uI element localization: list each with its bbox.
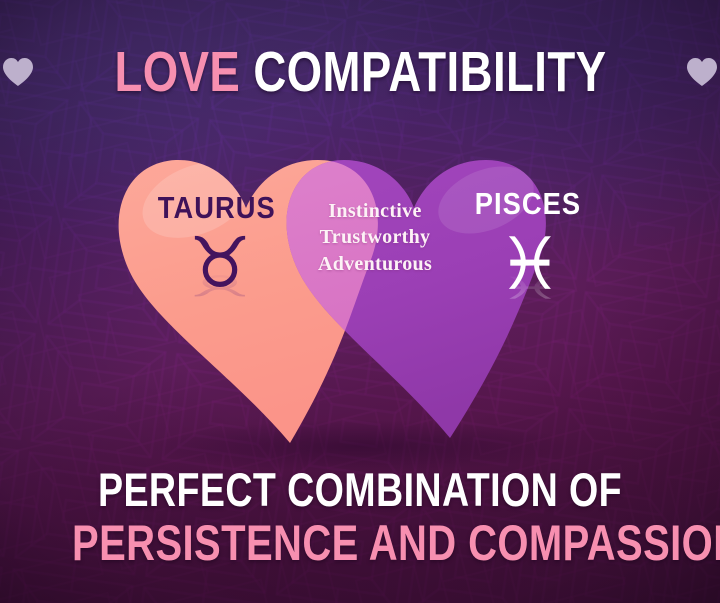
page-title: LOVE COMPATIBILITY (114, 44, 606, 101)
title-compatibility: COMPATIBILITY (240, 40, 606, 104)
caption-line-1: PERFECT COMBINATION OF (72, 466, 648, 514)
poster-caption: PERFECT COMBINATION OF PERSISTENCE AND C… (0, 466, 720, 569)
taurus-glyph-icon: ♉ (160, 228, 280, 298)
shared-traits-list: Instinctive Trustworthy Adventurous (290, 198, 460, 277)
love-compatibility-poster: LOVE COMPATIBILITY (0, 0, 720, 603)
title-love: LOVE (114, 40, 240, 104)
pisces-glyph-icon: ♓ (470, 228, 590, 300)
caption-line-2: PERSISTENCE AND COMPASSION (72, 518, 648, 569)
trait-item: Instinctive (290, 198, 460, 224)
zodiac-label-pisces: PISCES (471, 186, 585, 222)
trait-item: Trustworthy (290, 224, 460, 250)
heart-icon-left (1, 57, 35, 87)
zodiac-label-taurus: TAURUS (158, 190, 272, 226)
heart-icon-right (685, 57, 719, 87)
poster-title-row: LOVE COMPATIBILITY (0, 36, 720, 108)
trait-item: Adventurous (290, 251, 460, 277)
